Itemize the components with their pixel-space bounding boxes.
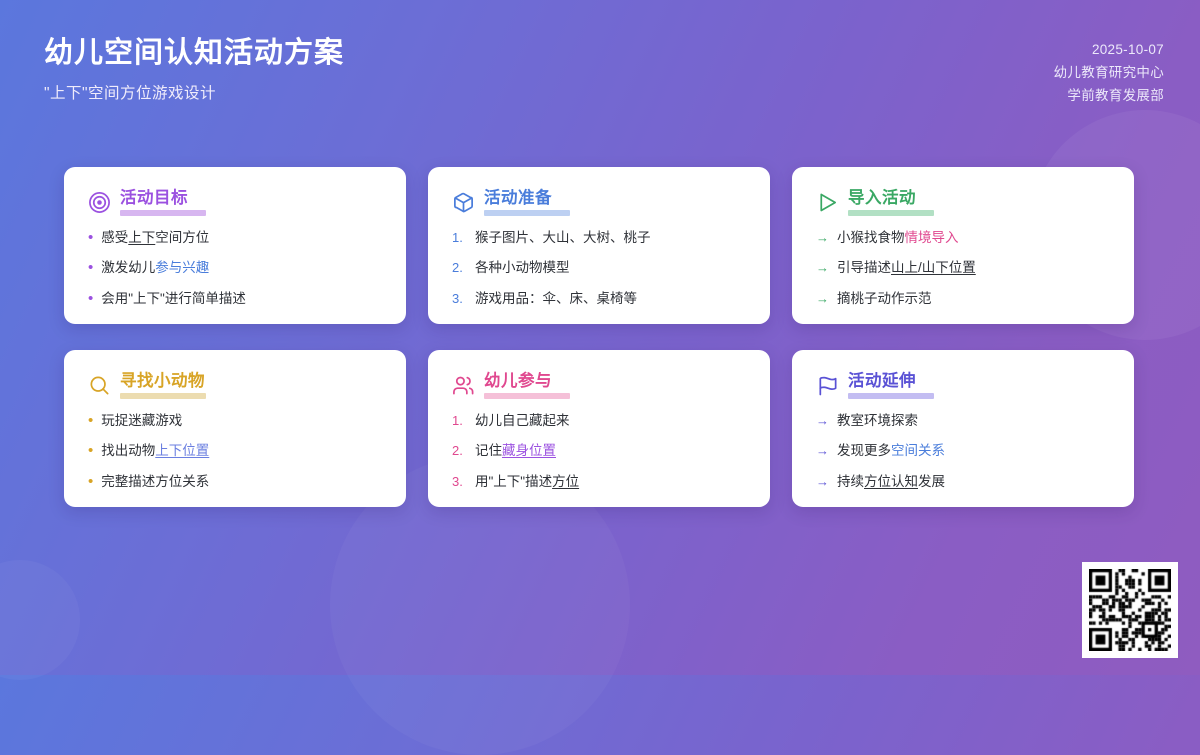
list-item-marker: • [88, 442, 93, 460]
card-header: 导入活动 [816, 189, 1110, 216]
list-item-marker: → [816, 229, 829, 247]
card-activity-extension[interactable]: 活动延伸→教室环境探索→发现更多空间关系→持续方位认知发展 [792, 350, 1134, 507]
card-title-underline [484, 393, 570, 399]
list-item-text: 发现更多空间关系 [837, 442, 945, 460]
list-item-marker: → [816, 412, 829, 430]
page-subtitle: "上下"空间方位游戏设计 [44, 81, 344, 103]
list-item-marker: • [88, 259, 93, 277]
header-department: 学前教育发展部 [1054, 84, 1164, 107]
card-item-list: •感受上下空间方位•激发幼儿参与兴趣•会用"上下"进行简单描述 [88, 229, 382, 308]
qr-code-image [1089, 569, 1171, 651]
card-header: 活动准备 [452, 189, 746, 216]
list-item[interactable]: •找出动物上下位置 [88, 442, 382, 460]
list-item-marker: → [816, 290, 829, 308]
list-item-marker: → [816, 442, 829, 460]
list-item[interactable]: •会用"上下"进行简单描述 [88, 290, 382, 308]
card-title-wrap: 活动目标 [120, 189, 206, 216]
header-meta: 2025-10-07 幼儿教育研究中心 学前教育发展部 [1054, 38, 1164, 108]
header-left: 幼儿空间认知活动方案 "上下"空间方位游戏设计 [44, 36, 344, 103]
list-item[interactable]: •玩捉迷藏游戏 [88, 412, 382, 430]
page-title: 幼儿空间认知活动方案 [44, 36, 344, 71]
card-title-underline [848, 393, 934, 399]
list-item-text: 摘桃子动作示范 [837, 290, 932, 308]
list-item-text: 持续方位认知发展 [837, 473, 945, 491]
card-title-wrap: 活动延伸 [848, 372, 934, 399]
box-icon [452, 191, 475, 214]
card-title: 幼儿参与 [484, 372, 570, 390]
card-title: 活动目标 [120, 189, 206, 207]
list-item-marker: • [88, 229, 93, 247]
header-date: 2025-10-07 [1054, 38, 1164, 61]
card-title: 活动延伸 [848, 372, 934, 390]
list-item-marker: • [88, 412, 93, 430]
card-item-list: •玩捉迷藏游戏•找出动物上下位置•完整描述方位关系 [88, 412, 382, 491]
page-header: 幼儿空间认知活动方案 "上下"空间方位游戏设计 2025-10-07 幼儿教育研… [0, 0, 1200, 140]
card-title: 导入活动 [848, 189, 934, 207]
list-item-text: 记住藏身位置 [475, 442, 556, 460]
card-title: 活动准备 [484, 189, 570, 207]
flag-icon [816, 374, 839, 397]
list-item-marker: 1. [452, 412, 467, 430]
list-item[interactable]: →摘桃子动作示范 [816, 290, 1110, 308]
card-header: 寻找小动物 [88, 372, 382, 399]
list-item[interactable]: →引导描述山上/山下位置 [816, 259, 1110, 277]
play-icon [816, 191, 839, 214]
card-title-wrap: 寻找小动物 [120, 372, 206, 399]
list-item-text: 引导描述山上/山下位置 [837, 259, 976, 277]
list-item-marker: → [816, 259, 829, 277]
card-item-list: →小猴找食物情境导入→引导描述山上/山下位置→摘桃子动作示范 [816, 229, 1110, 308]
card-title-underline [848, 210, 934, 216]
card-find-animals[interactable]: 寻找小动物•玩捉迷藏游戏•找出动物上下位置•完整描述方位关系 [64, 350, 406, 507]
list-item-text: 激发幼儿参与兴趣 [101, 259, 209, 277]
target-icon [88, 191, 111, 214]
decorative-circle-4 [0, 560, 80, 680]
card-title-wrap: 导入活动 [848, 189, 934, 216]
list-item-marker: 2. [452, 259, 467, 277]
list-item[interactable]: 3.游戏用品：伞、床、桌椅等 [452, 290, 746, 308]
list-item-text: 小猴找食物情境导入 [837, 229, 959, 247]
list-item[interactable]: →教室环境探索 [816, 412, 1110, 430]
qr-code[interactable] [1082, 562, 1178, 658]
card-activity-preparation[interactable]: 活动准备1.猴子图片、大山、大树、桃子2.各种小动物模型3.游戏用品：伞、床、桌… [428, 167, 770, 324]
users-icon [452, 374, 475, 397]
cards-grid: 活动目标•感受上下空间方位•激发幼儿参与兴趣•会用"上下"进行简单描述活动准备1… [64, 167, 1138, 507]
list-item[interactable]: 1.猴子图片、大山、大树、桃子 [452, 229, 746, 247]
list-item-text: 会用"上下"进行简单描述 [101, 290, 246, 308]
list-item-marker: 2. [452, 442, 467, 460]
list-item[interactable]: •激发幼儿参与兴趣 [88, 259, 382, 277]
list-item[interactable]: →持续方位认知发展 [816, 473, 1110, 491]
list-item-marker: 1. [452, 229, 467, 247]
list-item-text: 用"上下"描述方位 [475, 473, 579, 491]
list-item-marker: • [88, 290, 93, 308]
list-item-text: 教室环境探索 [837, 412, 918, 430]
list-item[interactable]: 2.各种小动物模型 [452, 259, 746, 277]
list-item-text: 猴子图片、大山、大树、桃子 [475, 229, 651, 247]
card-item-list: 1.猴子图片、大山、大树、桃子2.各种小动物模型3.游戏用品：伞、床、桌椅等 [452, 229, 746, 308]
list-item-marker: → [816, 473, 829, 491]
list-item[interactable]: →发现更多空间关系 [816, 442, 1110, 460]
card-title-underline [120, 393, 206, 399]
card-header: 活动延伸 [816, 372, 1110, 399]
card-activity-goals[interactable]: 活动目标•感受上下空间方位•激发幼儿参与兴趣•会用"上下"进行简单描述 [64, 167, 406, 324]
card-header: 幼儿参与 [452, 372, 746, 399]
card-header: 活动目标 [88, 189, 382, 216]
list-item-marker: 3. [452, 290, 467, 308]
list-item-marker: • [88, 473, 93, 491]
list-item-text: 游戏用品：伞、床、桌椅等 [475, 290, 637, 308]
list-item-marker: 3. [452, 473, 467, 491]
list-item-text: 完整描述方位关系 [101, 473, 209, 491]
list-item[interactable]: •感受上下空间方位 [88, 229, 382, 247]
card-title-wrap: 幼儿参与 [484, 372, 570, 399]
list-item[interactable]: 1.幼儿自己藏起来 [452, 412, 746, 430]
list-item-text: 感受上下空间方位 [101, 229, 209, 247]
header-organization: 幼儿教育研究中心 [1054, 61, 1164, 84]
card-title: 寻找小动物 [120, 372, 206, 390]
list-item-text: 玩捉迷藏游戏 [101, 412, 182, 430]
list-item-text: 各种小动物模型 [475, 259, 570, 277]
list-item-text: 幼儿自己藏起来 [475, 412, 570, 430]
list-item[interactable]: 3.用"上下"描述方位 [452, 473, 746, 491]
card-item-list: →教室环境探索→发现更多空间关系→持续方位认知发展 [816, 412, 1110, 491]
card-item-list: 1.幼儿自己藏起来2.记住藏身位置3.用"上下"描述方位 [452, 412, 746, 491]
search-icon [88, 374, 111, 397]
list-item[interactable]: •完整描述方位关系 [88, 473, 382, 491]
list-item[interactable]: →小猴找食物情境导入 [816, 229, 1110, 247]
list-item-text: 找出动物上下位置 [101, 442, 209, 460]
card-title-underline [120, 210, 206, 216]
card-title-wrap: 活动准备 [484, 189, 570, 216]
card-lead-in-activity[interactable]: 导入活动→小猴找食物情境导入→引导描述山上/山下位置→摘桃子动作示范 [792, 167, 1134, 324]
card-children-participation[interactable]: 幼儿参与1.幼儿自己藏起来2.记住藏身位置3.用"上下"描述方位 [428, 350, 770, 507]
card-title-underline [484, 210, 570, 216]
list-item[interactable]: 2.记住藏身位置 [452, 442, 746, 460]
